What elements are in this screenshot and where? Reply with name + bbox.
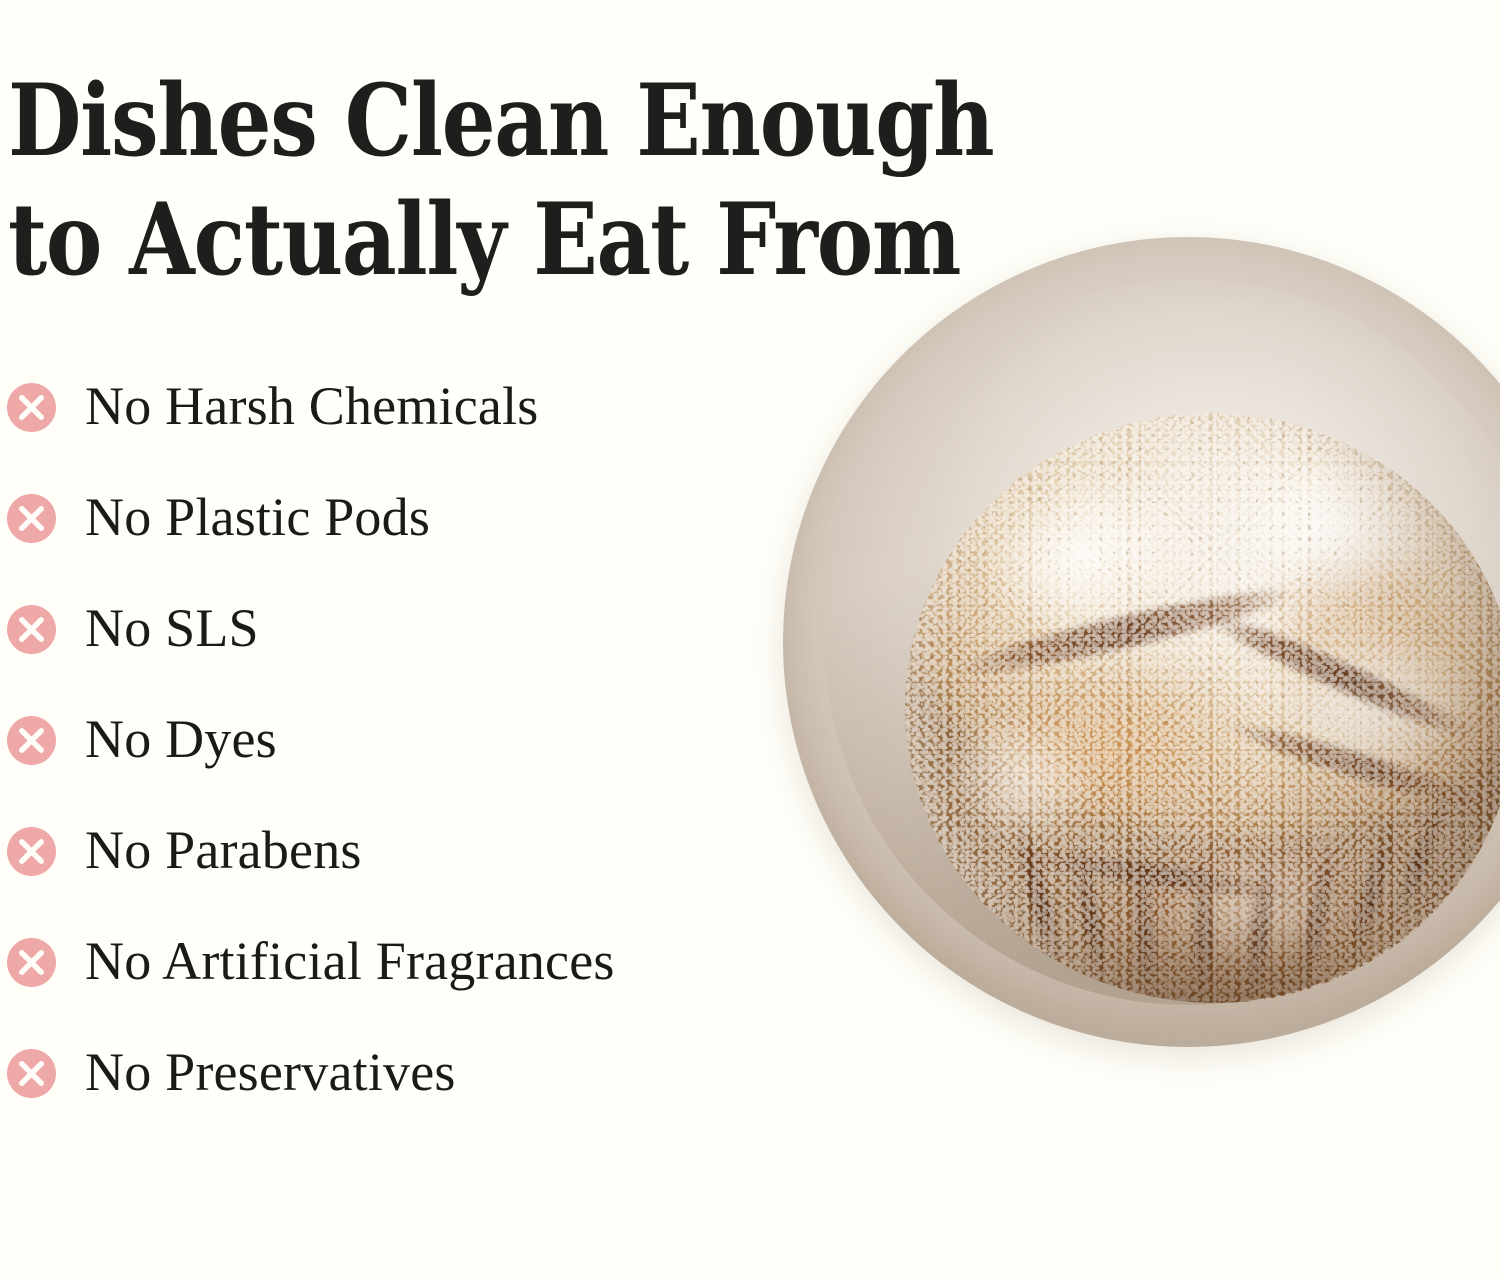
list-item: No Parabens — [0, 796, 790, 907]
list-item-label: No SLS — [85, 601, 259, 655]
benefits-list: No Harsh Chemicals No Plastic Pods No SL… — [0, 352, 790, 1129]
x-circle-icon — [7, 494, 56, 543]
loaf-bottom-shading — [905, 413, 1500, 1003]
sourdough-loaf-on-plate-photo — [735, 195, 1500, 1279]
list-item: No Dyes — [0, 685, 790, 796]
list-item: No Harsh Chemicals — [0, 352, 790, 463]
x-circle-icon — [7, 1049, 56, 1098]
list-item-label: No Parabens — [85, 823, 362, 877]
list-item: No SLS — [0, 574, 790, 685]
list-item: No Artificial Fragrances — [0, 907, 790, 1018]
x-circle-icon — [7, 383, 56, 432]
headline-line-1: Dishes Clean Enough — [8, 62, 983, 181]
list-item-label: No Harsh Chemicals — [85, 379, 539, 433]
list-item-label: No Artificial Fragrances — [85, 934, 615, 988]
promo-graphic: Dishes Clean Enough to Actually Eat From… — [0, 0, 1500, 1279]
list-item-label: No Preservatives — [85, 1045, 456, 1099]
x-circle-icon — [7, 605, 56, 654]
x-circle-icon — [7, 938, 56, 987]
list-item: No Preservatives — [0, 1018, 790, 1129]
list-item-label: No Plastic Pods — [85, 490, 430, 544]
list-item-label: No Dyes — [85, 712, 277, 766]
x-circle-icon — [7, 716, 56, 765]
list-item: No Plastic Pods — [0, 463, 790, 574]
x-circle-icon — [7, 827, 56, 876]
sourdough-loaf — [905, 413, 1500, 1003]
